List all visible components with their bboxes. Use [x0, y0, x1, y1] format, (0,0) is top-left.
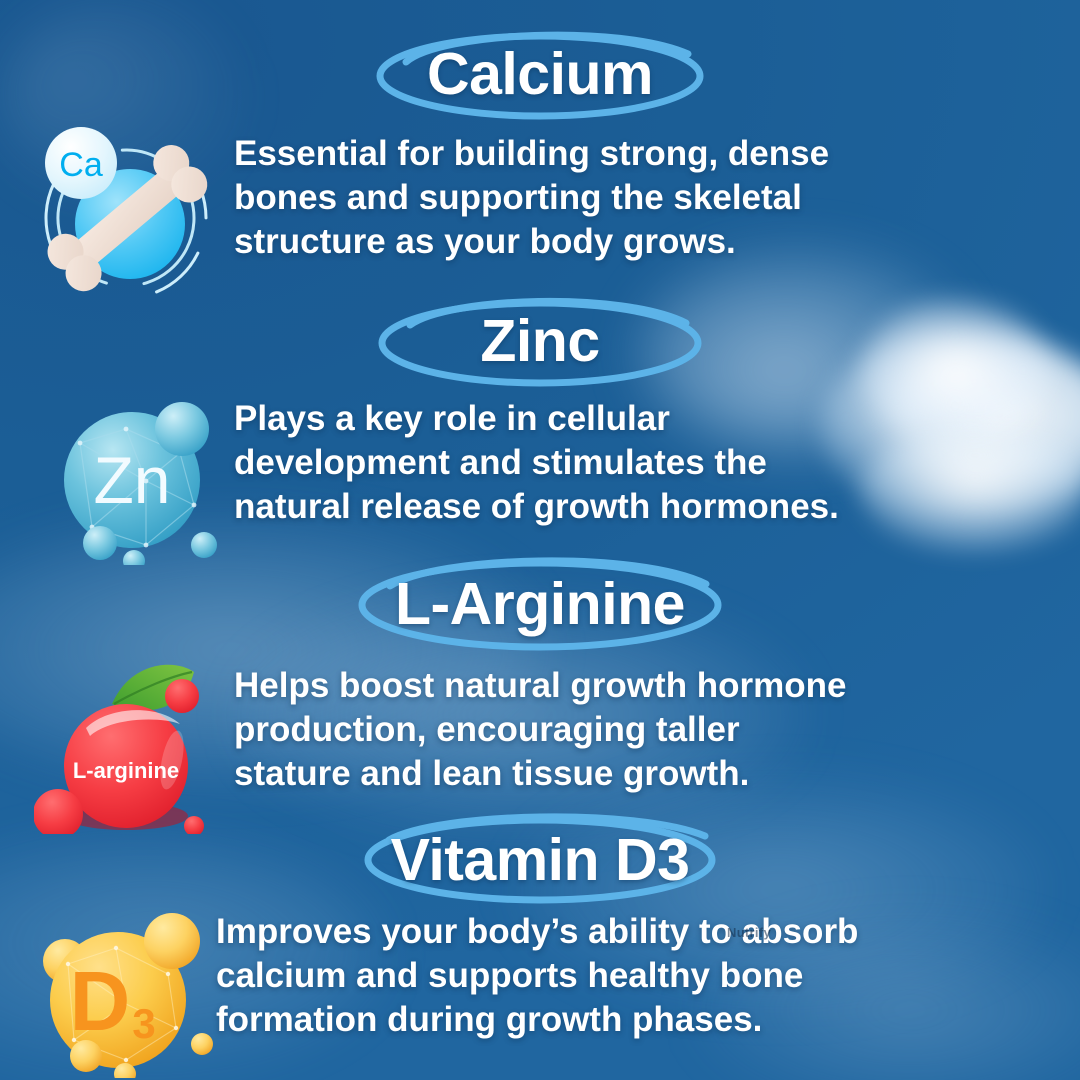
zinc-body-row: Zn Plays a key role in cellular developm…	[0, 395, 1080, 565]
section-vitamin-d3: Vitamin D3	[0, 812, 1080, 1078]
zinc-line-2: development and stimulates the	[234, 441, 839, 485]
vitamin-d3-icon-sublabel: 3	[132, 1000, 155, 1047]
calcium-line-1: Essential for building strong, dense	[234, 132, 829, 176]
infographic-canvas: Calcium	[0, 0, 1080, 1080]
zinc-title: Zinc	[480, 307, 599, 375]
l-arginine-icon-label: L-arginine	[73, 758, 179, 783]
vitamin-d3-description: Improves your body’s ability to absorb c…	[216, 908, 858, 1042]
vitamin-d3-golden-sphere-icon: D 3	[22, 908, 218, 1078]
section-zinc: Zinc	[0, 293, 1080, 565]
vitamin-d3-icon-svg: D 3	[22, 908, 218, 1078]
calcium-line-2: bones and supporting the skeletal	[234, 176, 829, 220]
zinc-molecule-sphere-icon: Zn	[34, 395, 230, 565]
vitamin-d3-line-1: Improves your body’s ability to absorb	[216, 910, 858, 954]
l-arginine-line-3: stature and lean tissue growth.	[234, 752, 847, 796]
zinc-line-3: natural release of growth hormones.	[234, 485, 839, 529]
vitamin-d3-title: Vitamin D3	[391, 826, 690, 894]
calcium-bone-molecule-icon: Ca	[34, 126, 230, 302]
l-arginine-description: Helps boost natural growth hormone produ…	[234, 654, 847, 796]
zinc-line-1: Plays a key role in cellular	[234, 397, 839, 441]
l-arginine-title-pill: L-Arginine	[0, 556, 1080, 652]
section-calcium: Calcium	[0, 26, 1080, 302]
l-arginine-title: L-Arginine	[395, 570, 685, 638]
vitamin-d3-line-3: formation during growth phases.	[216, 998, 858, 1042]
zinc-icon-label: Zn	[93, 443, 170, 517]
calcium-body-row: Ca Essential for building strong, dense …	[0, 124, 1080, 302]
l-arginine-icon-svg: L-arginine	[34, 654, 230, 834]
zinc-icon-svg: Zn	[34, 395, 230, 565]
calcium-icon-label: Ca	[59, 146, 103, 184]
vitamin-d3-title-pill: Vitamin D3	[0, 812, 1080, 908]
vitamin-d3-line-2: calcium and supports healthy bone	[216, 954, 858, 998]
l-arginine-line-1: Helps boost natural growth hormone	[234, 664, 847, 708]
l-arginine-body-row: L-arginine Helps boost natural growth ho…	[0, 654, 1080, 834]
l-arginine-line-2: production, encouraging taller	[234, 708, 847, 752]
vitamin-d3-icon-label: D	[70, 954, 131, 1048]
calcium-icon-svg: Ca	[34, 126, 230, 302]
zinc-title-pill: Zinc	[0, 293, 1080, 389]
vitamin-d3-body-row: D 3 Improves your body’s ability to abso…	[0, 908, 1080, 1078]
calcium-line-3: structure as your body grows.	[234, 220, 829, 264]
calcium-description: Essential for building strong, dense bon…	[234, 124, 829, 264]
section-l-arginine: L-Arginine	[0, 556, 1080, 834]
l-arginine-red-sphere-icon: L-arginine	[34, 654, 230, 834]
zinc-description: Plays a key role in cellular development…	[234, 395, 839, 529]
calcium-title: Calcium	[427, 40, 653, 108]
calcium-title-pill: Calcium	[0, 26, 1080, 122]
